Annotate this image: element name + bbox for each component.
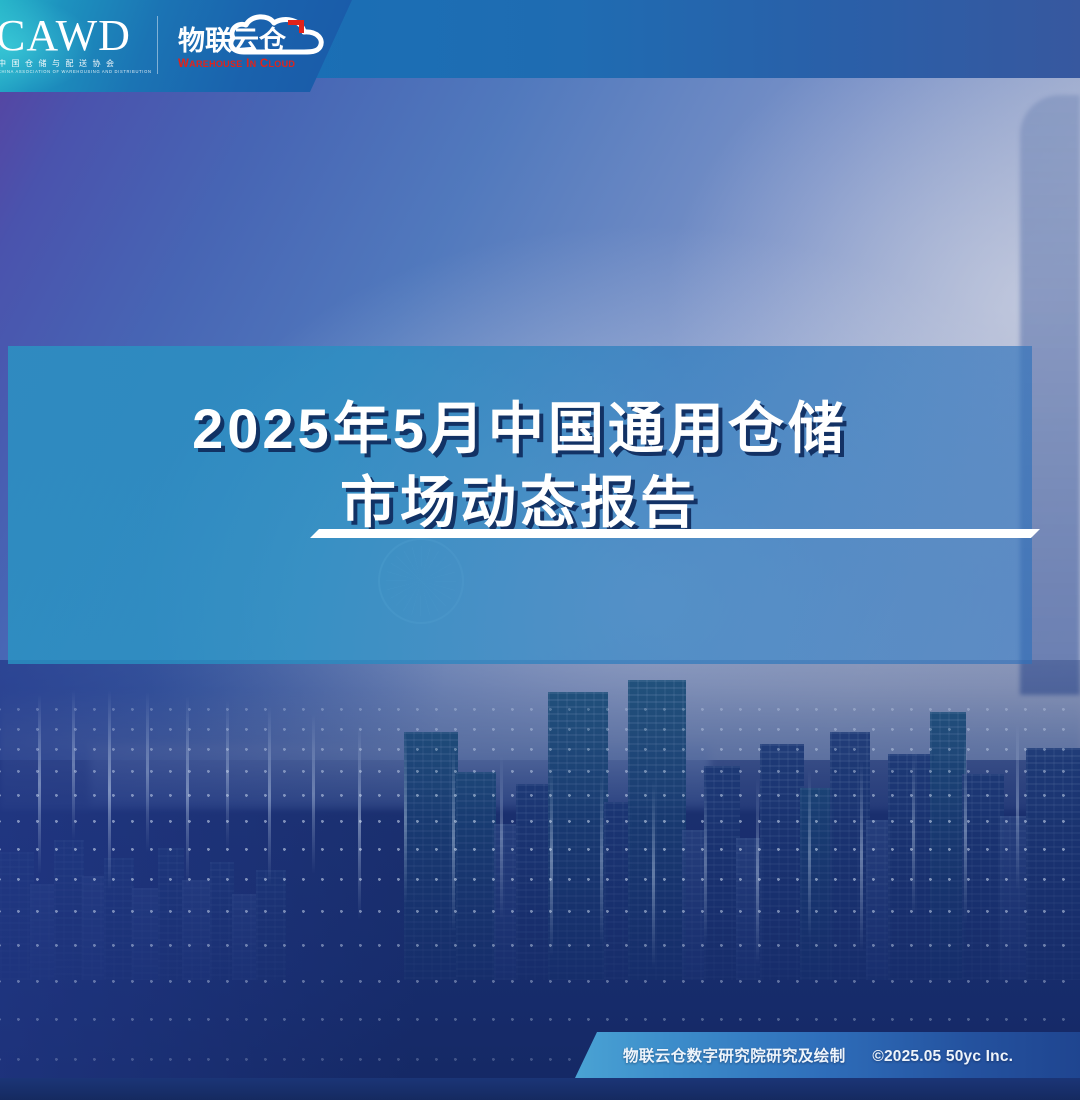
red-corner-accent bbox=[288, 20, 304, 33]
title-banner: 2025年5月中国通用仓储 市场动态报告 bbox=[8, 346, 1032, 664]
wic-english-name: WAREHOUSE IN CLOUD bbox=[178, 58, 295, 70]
footer-credit: 物联云仓数字研究院研究及绘制 bbox=[623, 1048, 846, 1065]
title-underline-rule bbox=[310, 529, 1040, 538]
wic-en-arehouse: AREHOUSE bbox=[189, 59, 242, 69]
wic-en-loud: LOUD bbox=[269, 59, 296, 69]
wic-en-n: N bbox=[250, 59, 257, 69]
logo-divider bbox=[157, 16, 158, 74]
wic-en-c: C bbox=[260, 58, 269, 70]
footer-copyright: ©2025.05 50yc Inc. bbox=[872, 1048, 1013, 1065]
header-bar: CAWD 中国仓储与配送协会 CHINA ASSOCIATION OF WARE… bbox=[0, 0, 1080, 92]
cawd-chinese-name: 中国仓储与配送协会 bbox=[0, 59, 152, 69]
footer-text: 物联云仓数字研究院研究及绘制 ©2025.05 50yc Inc. bbox=[623, 1044, 1013, 1066]
report-cover-page: CAWD 中国仓储与配送协会 CHINA ASSOCIATION OF WARE… bbox=[0, 0, 1080, 1100]
page-title-line-1: 2025年5月中国通用仓储 bbox=[192, 392, 848, 466]
wic-en-w: W bbox=[178, 58, 189, 70]
header-right-band bbox=[300, 0, 1080, 78]
cawd-wordmark: CAWD bbox=[0, 14, 152, 58]
page-title-line-2: 市场动态报告 bbox=[340, 466, 700, 540]
cawd-logo[interactable]: CAWD 中国仓储与配送协会 CHINA ASSOCIATION OF WARE… bbox=[0, 14, 152, 76]
warehouse-in-cloud-logo[interactable]: 物联云仓 WAREHOUSE IN CLOUD bbox=[178, 14, 338, 78]
cawd-english-name: CHINA ASSOCIATION OF WAREHOUSING AND DIS… bbox=[0, 69, 149, 75]
wic-chinese-name: 物联云仓 bbox=[178, 26, 286, 56]
bottom-strip bbox=[0, 1078, 1080, 1100]
footer-credit-banner: 物联云仓数字研究院研究及绘制 ©2025.05 50yc Inc. bbox=[575, 1032, 1080, 1078]
